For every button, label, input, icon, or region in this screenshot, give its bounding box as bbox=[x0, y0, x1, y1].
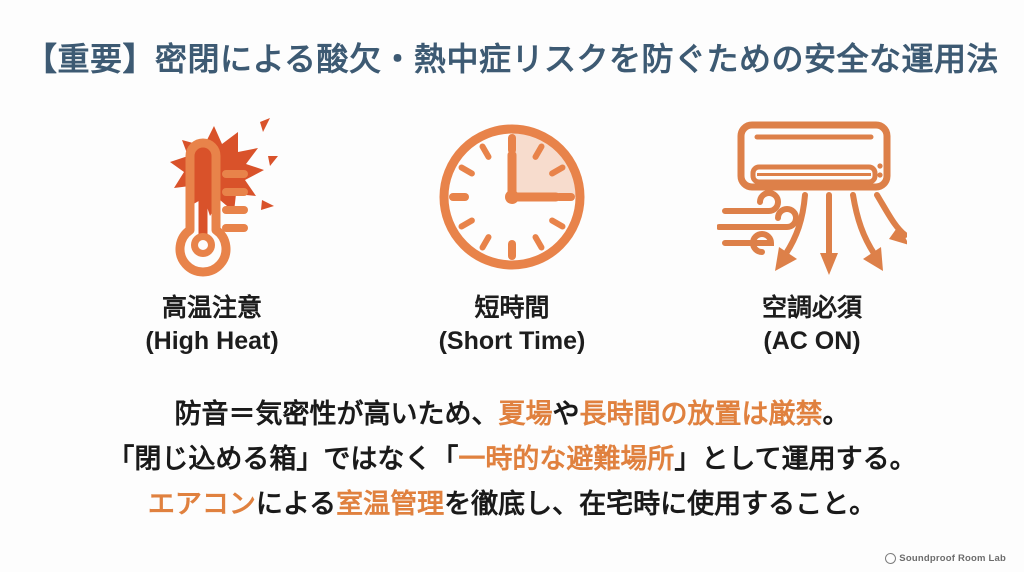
body-line-1: 防音＝気密性が高いため、夏場や長時間の放置は厳禁。 bbox=[0, 392, 1024, 437]
body-line-3: エアコンによる室温管理を徹底し、在宅時に使用すること。 bbox=[0, 482, 1024, 527]
footer-copyright: Soundproof Room Lab bbox=[885, 553, 1006, 564]
icon-caption-ac-on: 空調必須 (AC ON) bbox=[762, 292, 862, 358]
icon-item-short-time: 短時間 (Short Time) bbox=[362, 112, 662, 358]
icon-row: 高温注意 (High Heat) bbox=[0, 112, 1024, 362]
icon-item-high-heat: 高温注意 (High Heat) bbox=[62, 112, 362, 358]
icon-label-en: (High Heat) bbox=[145, 325, 278, 358]
plain-text: を徹底し、在宅時に使用すること。 bbox=[444, 489, 876, 519]
icon-label-en: (Short Time) bbox=[439, 325, 586, 358]
plain-text: 」として運用する。 bbox=[674, 444, 916, 474]
highlighted-text: エアコン bbox=[148, 489, 256, 519]
body-line-2: 「閉じ込める箱」ではなく「一時的な避難場所」として運用する。 bbox=[0, 437, 1024, 482]
icon-label-jp: 高温注意 bbox=[145, 292, 278, 325]
page-title: 【重要】密閉による酸欠・熱中症リスクを防ぐための安全な運用法 bbox=[0, 40, 1024, 78]
plain-text: 「閉じ込める箱」ではなく「 bbox=[107, 444, 458, 474]
plain-text: 。 bbox=[823, 399, 850, 429]
slide-canvas: 【重要】密閉による酸欠・熱中症リスクを防ぐための安全な運用法 bbox=[0, 0, 1024, 572]
copyright-icon bbox=[885, 553, 896, 564]
highlighted-text: 室温管理 bbox=[336, 489, 444, 519]
thermometer-burst-icon bbox=[146, 112, 278, 282]
plain-text: や bbox=[553, 399, 580, 429]
body-text-block: 防音＝気密性が高いため、夏場や長時間の放置は厳禁。 「閉じ込める箱」ではなく「一… bbox=[0, 392, 1024, 526]
icon-caption-short-time: 短時間 (Short Time) bbox=[439, 292, 586, 358]
highlighted-text: 一時的な避難場所 bbox=[458, 444, 674, 474]
icon-label-jp: 空調必須 bbox=[762, 292, 862, 325]
plain-text: 防音＝気密性が高いため、 bbox=[175, 399, 499, 429]
highlighted-text: 長時間の放置は厳禁 bbox=[580, 399, 823, 429]
highlighted-text: 夏場 bbox=[499, 399, 553, 429]
plain-text: による bbox=[256, 489, 336, 519]
icon-item-ac-on: 空調必須 (AC ON) bbox=[662, 112, 962, 358]
air-conditioner-icon bbox=[717, 112, 907, 282]
clock-icon bbox=[432, 112, 592, 282]
icon-label-en: (AC ON) bbox=[762, 325, 862, 358]
copyright-text: Soundproof Room Lab bbox=[899, 553, 1006, 564]
icon-label-jp: 短時間 bbox=[439, 292, 586, 325]
icon-caption-high-heat: 高温注意 (High Heat) bbox=[145, 292, 278, 358]
